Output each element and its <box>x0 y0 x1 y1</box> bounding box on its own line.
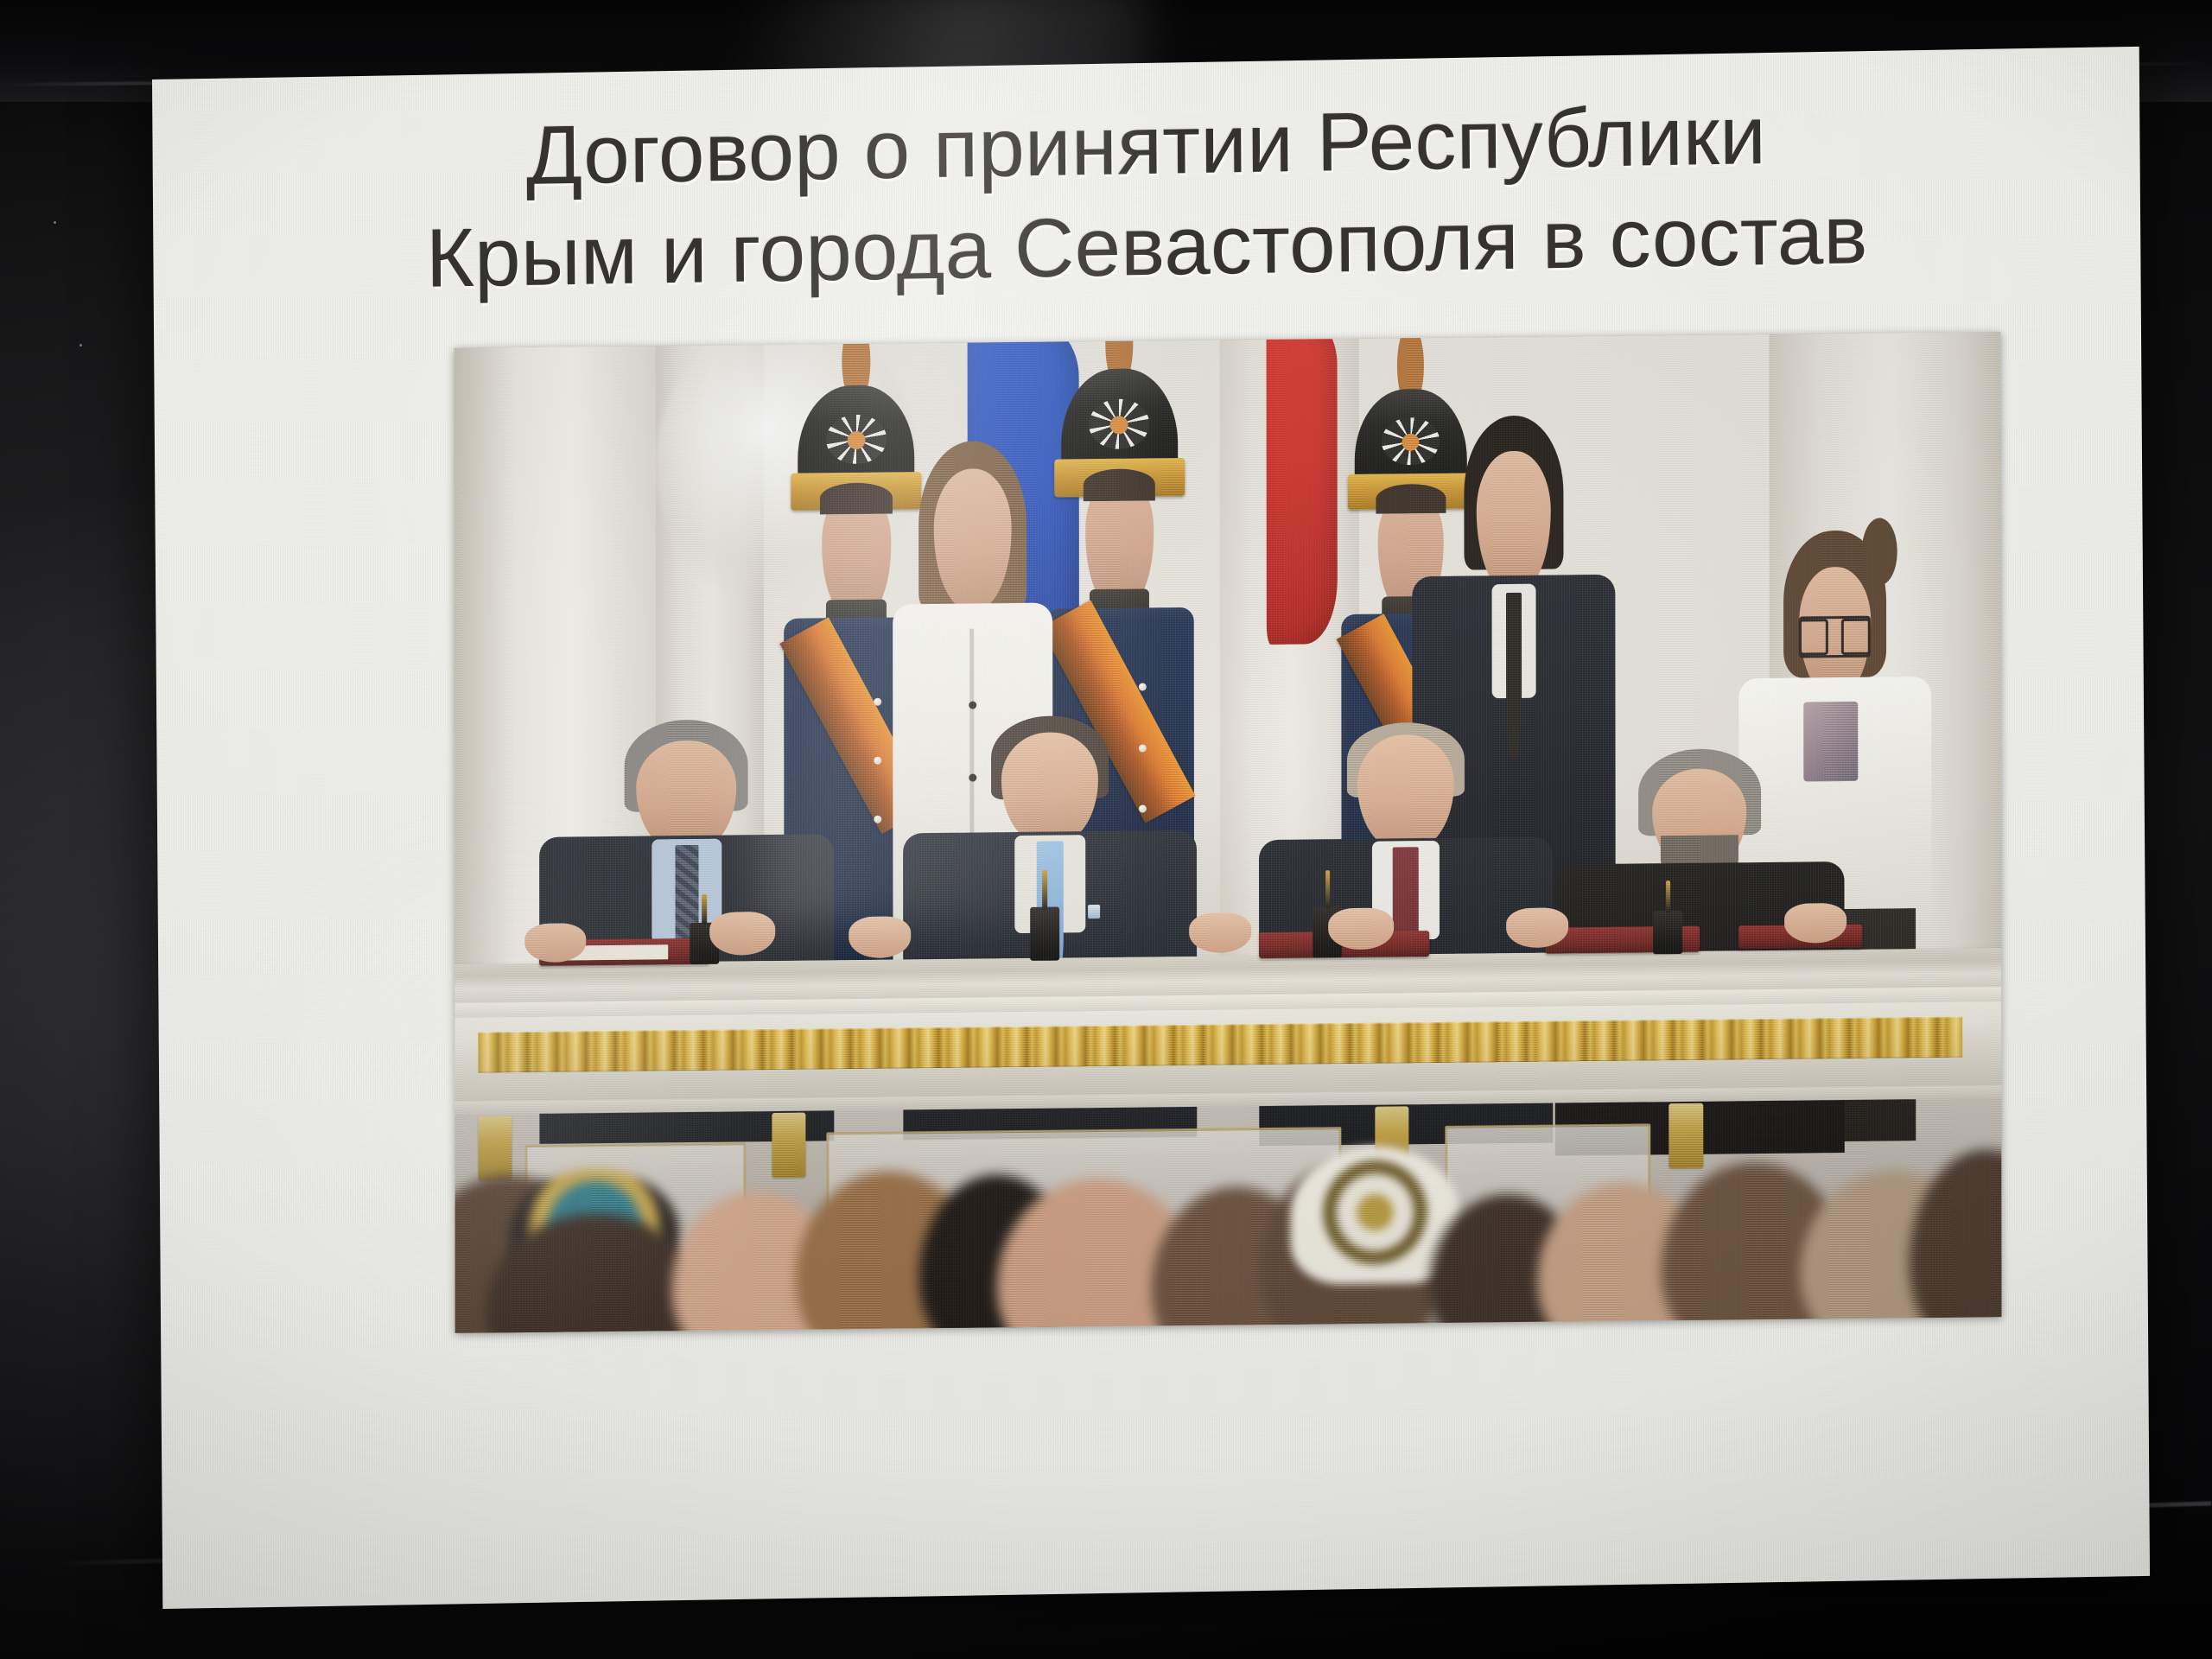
tunic-button <box>1139 683 1147 691</box>
pen-stand <box>1653 911 1682 955</box>
table-corbel <box>772 1113 805 1179</box>
slide-title: Договор о принятии Республики Крым и гор… <box>152 81 2140 312</box>
slide-photograph <box>454 332 2002 1333</box>
projected-slide: Договор о принятии Республики Крым и гор… <box>152 47 2150 1609</box>
room-background: Договор о принятии Республики Крым и гор… <box>0 0 2212 1659</box>
table-corbel <box>1669 1103 1702 1169</box>
hand <box>1506 908 1568 948</box>
blouse-button <box>969 701 976 709</box>
table-corbel <box>478 1116 512 1181</box>
lapel-pin <box>1088 905 1100 918</box>
hand <box>710 911 775 955</box>
shako-star-emblem-icon <box>1089 398 1149 449</box>
slide-surface: Договор о принятии Республики Крым и гор… <box>152 47 2150 1609</box>
dust-speck <box>54 221 56 224</box>
dust-speck <box>79 344 82 346</box>
hand <box>1784 903 1847 943</box>
eyeglasses-icon <box>1798 616 1871 658</box>
hand <box>1328 907 1393 950</box>
signer-face <box>1357 734 1454 851</box>
photo-content <box>454 332 2002 1333</box>
guard-hair <box>1084 469 1156 501</box>
pen-stand <box>1030 907 1059 961</box>
aide-hair-bun <box>1861 518 1897 585</box>
signer-face <box>1001 732 1098 844</box>
aide-face <box>1477 451 1551 594</box>
